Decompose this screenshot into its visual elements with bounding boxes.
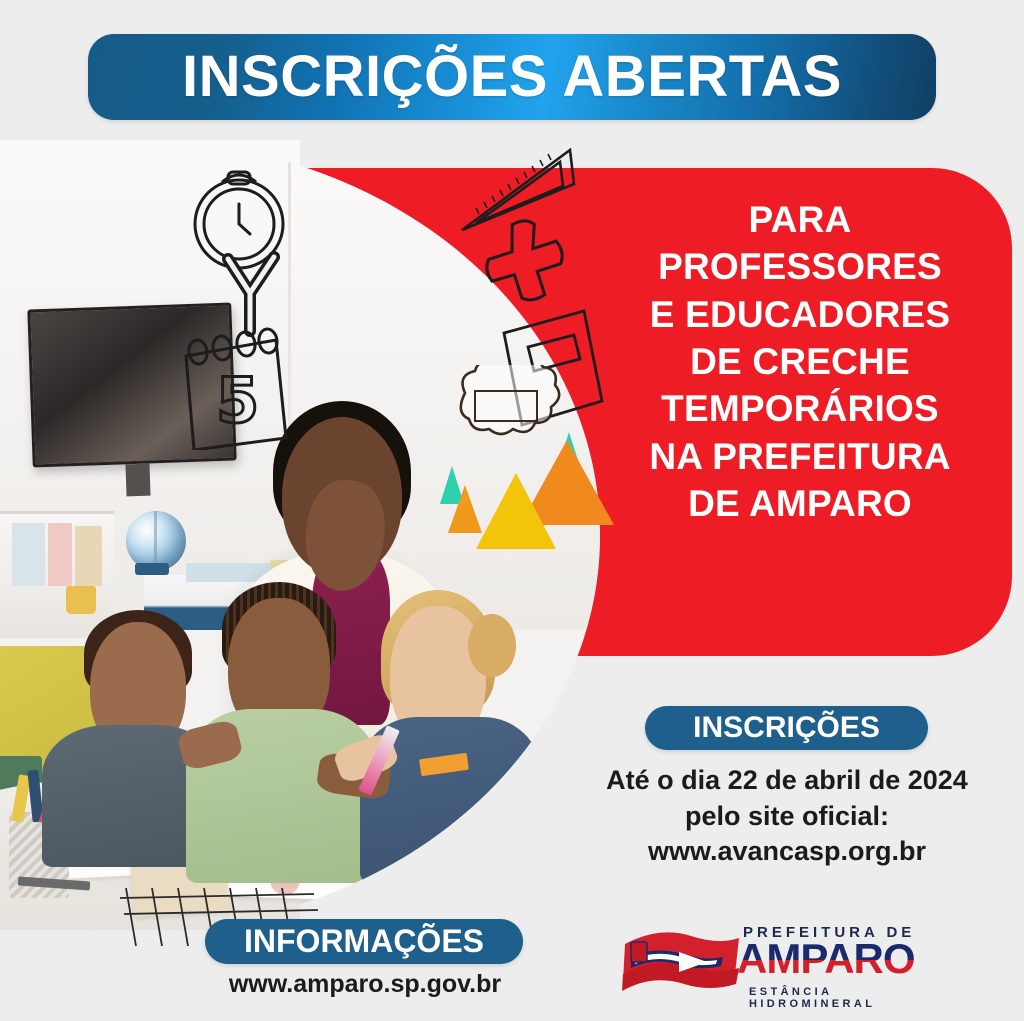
logo-city-text: AMPARO — [737, 938, 915, 980]
inscricoes-badge-label: INSCRIÇÕES — [693, 711, 880, 745]
speech-bubble-icon — [445, 365, 570, 455]
inscricoes-badge: INSCRIÇÕES — [645, 706, 928, 750]
inscricoes-abertas-banner: INSCRIÇÕES ABERTAS — [88, 34, 936, 120]
red-line-1: PARA — [600, 196, 1000, 243]
informacoes-badge-label: INFORMAÇÕES — [244, 923, 484, 960]
logo-subtitle-text: ESTÂNCIA HIDROMINERAL — [749, 986, 923, 1010]
svg-text:5: 5 — [216, 364, 259, 437]
red-line-7: DE AMPARO — [600, 480, 1000, 527]
inscricoes-details: Até o dia 22 de abril de 2024 pelo site … — [572, 763, 1002, 870]
informacoes-url[interactable]: www.amparo.sp.gov.br — [180, 970, 550, 999]
calendar-5-icon: 5 — [168, 310, 298, 450]
red-line-6: NA PREFEITURA — [600, 433, 1000, 480]
red-panel-text: PARA PROFESSORES E EDUCADORES DE CRECHE … — [600, 196, 1000, 528]
red-line-3: E EDUCADORES — [600, 291, 1000, 338]
informacoes-badge: INFORMAÇÕES — [205, 919, 523, 964]
inscricoes-site-label: pelo site oficial: — [572, 799, 1002, 835]
inscricoes-deadline: Até o dia 22 de abril de 2024 — [572, 763, 1002, 799]
prefeitura-amparo-logo: PREFEITURA DE AMPARO ESTÂNCIA HIDROMINER… — [617, 918, 917, 1010]
red-line-2: PROFESSORES — [600, 243, 1000, 290]
poster-canvas: 5 INSCRIÇÕES ABERTAS PARA — [0, 0, 1024, 1021]
plus-icon — [483, 213, 578, 308]
red-line-5: TEMPORÁRIOS — [600, 385, 1000, 432]
banner-title: INSCRIÇÕES ABERTAS — [182, 48, 842, 106]
triangle-yellow-icon — [476, 473, 556, 549]
red-line-4: DE CRECHE — [600, 338, 1000, 385]
inscricoes-site-url[interactable]: www.avancasp.org.br — [572, 834, 1002, 870]
amparo-flag-icon — [617, 922, 747, 1014]
